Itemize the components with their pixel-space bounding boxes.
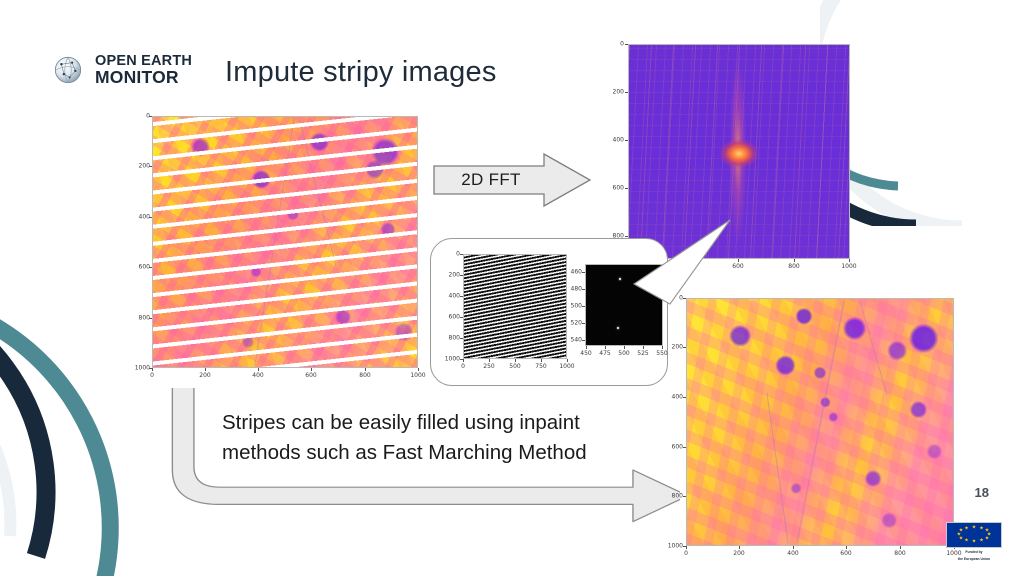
y-tick-label: 500	[560, 303, 582, 310]
missing-data-stripes	[153, 117, 417, 367]
y-tick-label: 600	[441, 314, 460, 321]
y-tick-label: 0	[441, 251, 460, 258]
eu-funding-logo: ★ ★ ★ ★ ★ ★ ★ ★ ★ ★ ★ ★ Funded by the Eu…	[946, 522, 1002, 561]
logo-line-2: MONITOR	[95, 69, 192, 87]
x-tick-label: 600	[835, 550, 857, 557]
y-tick-mark	[149, 166, 152, 167]
y-tick-mark	[625, 188, 628, 189]
figure-synthetic-stripes: 0 200 400 600 800 1000 0 250 500 750 100…	[439, 249, 573, 377]
y-tick-label: 1000	[132, 365, 150, 372]
y-tick-mark	[683, 496, 686, 497]
x-tick-mark	[686, 546, 687, 549]
y-tick-label: 400	[441, 293, 460, 300]
y-tick-label: 200	[606, 89, 624, 96]
y-tick-mark	[582, 323, 585, 324]
synthetic-stripes-raster	[464, 255, 566, 358]
x-tick-mark	[793, 546, 794, 549]
x-tick-label: 600	[300, 372, 322, 379]
x-tick-mark	[311, 368, 312, 371]
eu-flag-icon: ★ ★ ★ ★ ★ ★ ★ ★ ★ ★ ★ ★	[946, 522, 1002, 548]
x-tick-label: 550	[651, 350, 673, 357]
x-tick-mark	[515, 359, 516, 362]
y-tick-label: 600	[606, 185, 624, 192]
fft-arrow-label: 2D FFT	[432, 152, 550, 208]
y-tick-mark	[460, 338, 463, 339]
y-tick-mark	[460, 275, 463, 276]
figure-imputed-output: 0 200 400 600 800 1000 0 200 400 600 800…	[668, 292, 956, 564]
x-tick-mark	[849, 259, 850, 262]
x-tick-mark	[605, 346, 606, 349]
y-tick-mark	[625, 140, 628, 141]
inpaint-text-line-2: methods such as Fast Marching Method	[222, 438, 642, 468]
imputed-output-plotbox	[686, 298, 954, 546]
x-tick-mark	[463, 359, 464, 362]
x-tick-mark	[739, 546, 740, 549]
x-tick-mark	[152, 368, 153, 371]
y-tick-label: 600	[666, 444, 683, 451]
decorative-arc-bottom-left	[0, 236, 154, 576]
page-title: Impute stripy images	[225, 56, 497, 89]
x-tick-mark	[541, 359, 542, 362]
y-tick-label: 800	[132, 315, 150, 322]
x-tick-mark	[643, 346, 644, 349]
y-tick-mark	[625, 92, 628, 93]
y-tick-label: 200	[132, 163, 150, 170]
y-tick-mark	[582, 306, 585, 307]
y-tick-mark	[149, 318, 152, 319]
x-tick-label: 0	[675, 550, 697, 557]
y-tick-mark	[683, 347, 686, 348]
y-tick-mark	[149, 116, 152, 117]
x-tick-mark	[365, 368, 366, 371]
y-tick-label: 800	[441, 335, 460, 342]
y-tick-label: 200	[441, 272, 460, 279]
y-tick-label: 520	[560, 320, 582, 327]
x-tick-label: 1000	[407, 372, 429, 379]
x-tick-mark	[418, 368, 419, 371]
fft-peak-dot	[617, 327, 619, 329]
y-tick-label: 600	[132, 264, 150, 271]
x-tick-label: 500	[504, 363, 526, 370]
x-tick-label: 400	[782, 550, 804, 557]
logo-line-1: OPEN EARTH	[95, 54, 192, 69]
x-tick-label: 200	[728, 550, 750, 557]
x-tick-mark	[205, 368, 206, 371]
y-tick-mark	[683, 447, 686, 448]
y-tick-label: 1000	[666, 543, 683, 550]
y-tick-mark	[683, 397, 686, 398]
callout-bubble-tail	[612, 212, 742, 310]
y-tick-mark	[460, 254, 463, 255]
y-tick-label: 0	[132, 113, 150, 120]
x-tick-label: 800	[782, 263, 806, 270]
y-tick-label: 460	[560, 269, 582, 276]
globe-icon	[50, 52, 86, 88]
y-tick-mark	[149, 217, 152, 218]
page-number: 18	[975, 485, 989, 500]
x-tick-label: 250	[478, 363, 500, 370]
slide-root: OPEN EARTH MONITOR Impute stripy images …	[0, 0, 1024, 576]
x-tick-label: 0	[141, 372, 163, 379]
y-tick-mark	[625, 44, 628, 45]
y-tick-label: 400	[132, 214, 150, 221]
y-tick-label: 540	[560, 337, 582, 344]
inpaint-method-text: Stripes can be easily filled using inpai…	[222, 408, 642, 469]
eu-caption-line-2: the European Union	[946, 557, 1002, 562]
x-tick-label: 200	[194, 372, 216, 379]
eu-caption-line-1: Funded by	[946, 550, 1002, 555]
synthetic-stripes-plotbox	[463, 254, 567, 359]
open-earth-monitor-logo: OPEN EARTH MONITOR	[50, 52, 192, 88]
x-tick-label: 750	[530, 363, 552, 370]
x-tick-mark	[624, 346, 625, 349]
y-tick-mark	[460, 296, 463, 297]
x-tick-label: 800	[354, 372, 376, 379]
y-tick-mark	[460, 317, 463, 318]
y-tick-label: 800	[666, 493, 683, 500]
y-tick-mark	[149, 267, 152, 268]
x-tick-mark	[258, 368, 259, 371]
x-tick-mark	[846, 546, 847, 549]
fft-transform-arrow: 2D FFT	[432, 152, 592, 208]
inpaint-text-line-1: Stripes can be easily filled using inpai…	[222, 408, 642, 438]
x-tick-label: 400	[247, 372, 269, 379]
figure-striped-input: 0 200 400 600 800 1000 0 200 400 600 800…	[138, 110, 420, 385]
x-tick-mark	[662, 346, 663, 349]
y-tick-label: 0	[606, 41, 624, 48]
y-tick-mark	[582, 340, 585, 341]
y-tick-mark	[582, 289, 585, 290]
x-tick-label: 800	[889, 550, 911, 557]
x-tick-mark	[900, 546, 901, 549]
y-tick-label: 400	[606, 137, 624, 144]
y-tick-label: 400	[666, 394, 683, 401]
x-tick-mark	[794, 259, 795, 262]
x-tick-label: 1000	[837, 263, 861, 270]
x-tick-mark	[489, 359, 490, 362]
y-tick-label: 1000	[441, 356, 460, 363]
y-tick-mark	[582, 272, 585, 273]
x-tick-label: 0	[452, 363, 474, 370]
striped-input-plotbox	[152, 116, 418, 368]
x-tick-mark	[586, 346, 587, 349]
y-tick-label: 480	[560, 286, 582, 293]
